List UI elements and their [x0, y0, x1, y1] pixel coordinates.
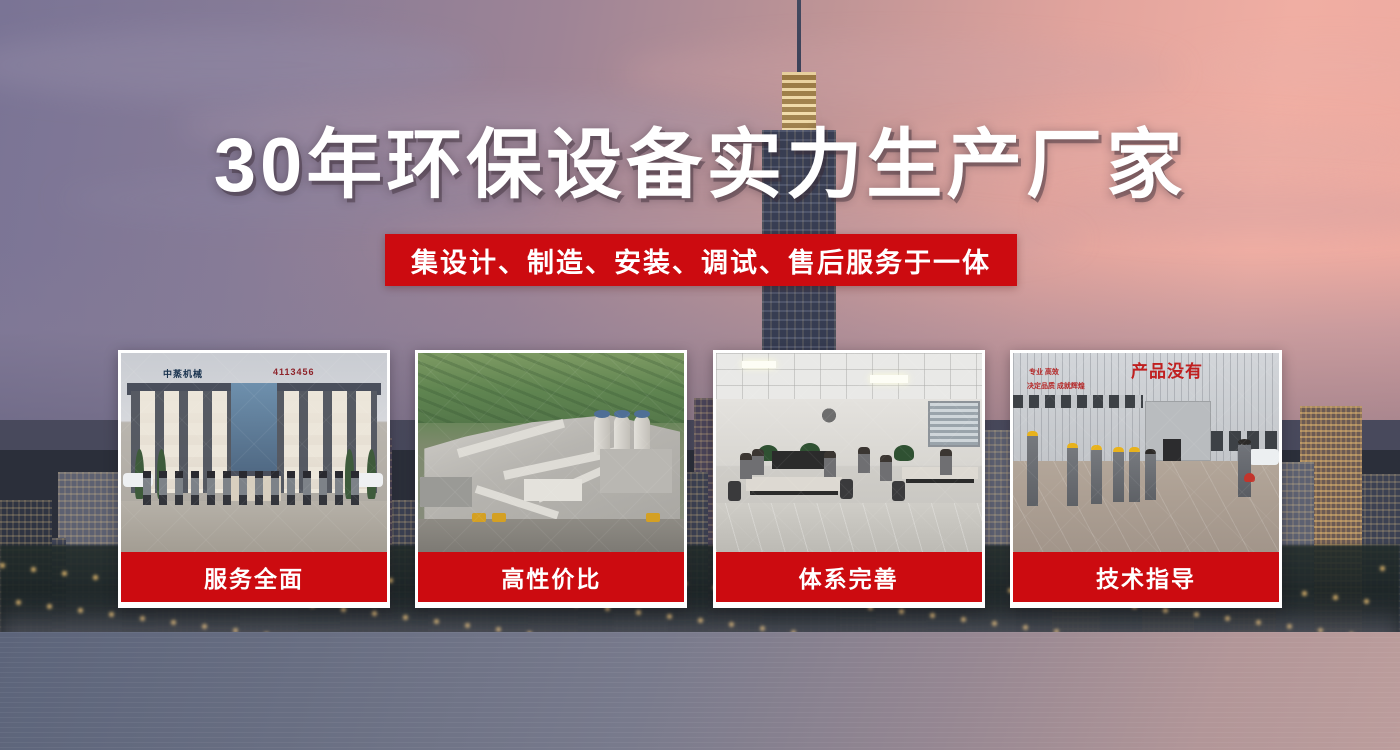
tree-light	[1302, 591, 1307, 596]
card-caption: 技术指导	[1013, 552, 1279, 602]
wall-slogan-left: 专业 高效	[1029, 369, 1059, 377]
tree-light	[1380, 566, 1385, 571]
tree-light	[31, 567, 36, 572]
river	[0, 632, 1400, 750]
feature-card-list: 中蒸机械 4113456 服务全面	[118, 350, 1282, 608]
tower-spire	[797, 0, 801, 75]
building-sign-text: 中蒸机械	[163, 367, 203, 380]
feature-card[interactable]: 中蒸机械 4113456 服务全面	[118, 350, 390, 608]
cloud	[0, 30, 480, 100]
promo-banner: 30年环保设备实力生产厂家 集设计、制造、安装、调试、售后服务于一体 中蒸机械 …	[0, 0, 1400, 750]
forecourt	[121, 501, 387, 552]
card-caption: 高性价比	[418, 552, 684, 602]
page-title: 30年环保设备实力生产厂家	[0, 128, 1400, 204]
card-photo-aerial-plant	[418, 353, 684, 552]
office-floor	[716, 503, 982, 552]
site-road	[418, 519, 684, 552]
window-blinds	[928, 401, 980, 447]
cloud	[1180, 44, 1400, 88]
card-label: 服务全面	[204, 560, 304, 594]
feature-card[interactable]: 高性价比	[415, 350, 687, 608]
feature-card[interactable]: 产品没有 专业 高效 决定品质 成就辉煌 技术指导	[1010, 350, 1282, 608]
card-caption: 服务全面	[121, 552, 387, 602]
supervisor	[1238, 439, 1251, 497]
ceiling	[716, 353, 982, 399]
card-label: 高性价比	[501, 560, 601, 594]
card-photo-workers: 产品没有 专业 高效 决定品质 成就辉煌	[1013, 353, 1279, 552]
wall-logo	[812, 405, 846, 431]
factory-windows	[1013, 395, 1143, 408]
subtitle-banner: 集设计、制造、安装、调试、售后服务于一体	[385, 234, 1017, 286]
building-phone-text: 4113456	[273, 367, 315, 377]
parked-car	[1249, 449, 1279, 465]
wall-red-text: 产品没有	[1131, 357, 1203, 382]
subtitle-text: 集设计、制造、安装、调试、售后服务于一体	[411, 241, 991, 280]
card-photo-office-building: 中蒸机械 4113456	[121, 353, 387, 552]
tree-light	[0, 563, 5, 568]
card-label: 体系完善	[799, 560, 899, 594]
tree-light	[93, 575, 98, 580]
factory-side-door	[1163, 439, 1181, 461]
wall-slogan-sub: 决定品质 成就辉煌	[1027, 383, 1085, 391]
card-photo-office-interior	[716, 353, 982, 552]
feature-card[interactable]: 体系完善	[713, 350, 985, 608]
cloud	[620, 40, 1180, 104]
tree-light	[62, 571, 67, 576]
card-label: 技术指导	[1096, 560, 1196, 594]
red-helmet	[1244, 473, 1255, 482]
card-caption: 体系完善	[716, 552, 982, 602]
